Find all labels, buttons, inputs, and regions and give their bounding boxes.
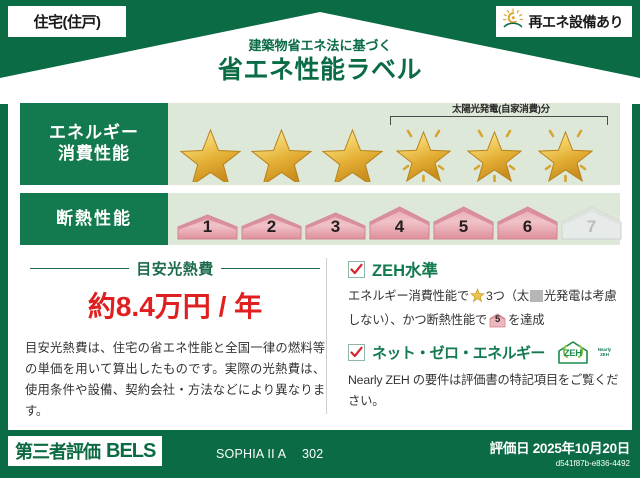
evaluation-id: d541f87b-e836-4492 [490,459,630,468]
star-solar-6 [531,122,600,182]
house-type-badge-label: 住宅(住戸) [34,11,101,32]
insulation-grade-4-number: 4 [368,217,431,237]
insulation-grade-3-number: 3 [304,217,367,237]
sun-icon [502,8,525,35]
evaluation-date: 評価日 2025年10月20日 [490,437,630,457]
star-solar-4 [389,122,458,182]
insulation-grade-7: 7 [560,203,623,241]
insulation-label: 断熱性能 [56,209,132,230]
renewable-equipment-label: 再エネ設備あり [529,12,624,32]
content-panel: エネルギー 消費性能 太陽光発電(自家消費)分 [8,92,632,430]
star-rating [176,122,600,182]
insulation-performance-row: 断熱性能 1 [20,193,620,245]
solar-bracket-label: 太陽光発電(自家消費)分 [396,101,606,115]
insulation-grade-5: 5 [432,203,495,241]
house-type-badge: 住宅(住戸) [8,6,126,37]
zeh-standard-heading: ZEH水準 [348,257,620,281]
energy-performance-label-block: エネルギー 消費性能 [20,103,168,185]
zeh-column: ZEH水準 エネルギー消費性能で 3つ（太光発電は考慮しない）、かつ断熱性能で … [330,254,620,418]
insulation-grade-6-number: 6 [496,217,559,237]
energy-label-line1: エネルギー [49,123,139,144]
insulation-grade-scale: 1 2 3 [176,203,623,241]
zeh-logo-subtext-line2: ZEH [600,352,609,357]
zeh-logo-text: ZEH [556,348,590,359]
net-zero-energy-heading: ネット・ゼロ・エネルギー ZEH Nearly ZEH [348,340,620,365]
energy-performance-label: 住宅(住戸) 再エネ設備あり 建築物省エネ法に基づく 省 [0,0,640,478]
energy-performance-row: エネルギー 消費性能 太陽光発電(自家消費)分 [20,103,620,185]
cost-note: 目安光熱費は、住宅の省エネ性能と全国一律の燃料等の単価を用いて算出したものです。… [20,338,330,423]
zeh-standard-text-1: エネルギー消費性能で [348,289,469,303]
insulation-grade-2-number: 2 [240,217,303,237]
cost-column: 目安光熱費 約8.4万円 / 年 目安光熱費は、住宅の省エネ性能と全国一律の燃料… [20,254,330,418]
insulation-grade-6: 6 [496,203,559,241]
star-icon [470,288,485,310]
zeh-logo-icon: ZEH [556,340,590,365]
evaluation-info: 評価日 2025年10月20日 d541f87b-e836-4492 [490,437,630,468]
building-name: SOPHIA II A 302 [216,443,323,462]
cost-rule-right [221,268,320,270]
insulation-grade-1-number: 1 [176,217,239,237]
redacted-block [530,290,543,302]
renewable-equipment-badge: 再エネ設備あり [496,6,633,37]
details-columns: 目安光熱費 約8.4万円 / 年 目安光熱費は、住宅の省エネ性能と全国一律の燃料… [20,254,620,418]
zeh-logo-subtext: Nearly ZEH [598,348,611,358]
zeh-standard-text-4: を達成 [508,313,544,327]
insulation-grade-4: 4 [368,203,431,241]
title-subtitle: 建築物省エネ法に基づく [0,38,640,54]
zeh-standard-title: ZEH水準 [372,257,438,281]
net-zero-energy-title: ネット・ゼロ・エネルギー [372,342,545,363]
zeh-standard-checkbox[interactable] [348,261,365,278]
net-zero-energy-body: Nearly ZEH の要件は評価書の特記項目をご覧ください。 [348,370,620,411]
zeh-standard-text-2: 3つ（太 [486,289,529,303]
bels-en-label: BELS [106,440,155,463]
insulation-grade-7-number: 7 [560,217,623,237]
insulation-performance-label-block: 断熱性能 [20,193,168,245]
cost-value: 約8.4万円 / 年 [20,285,330,325]
net-zero-energy-checkbox[interactable] [348,344,365,361]
star-filled-2 [247,122,316,182]
label-footer: 第三者評価 BELS SOPHIA II A 302 評価日 2025年10月2… [0,430,640,478]
zeh-standard-block: ZEH水準 エネルギー消費性能で 3つ（太光発電は考慮しない）、かつ断熱性能で … [348,257,620,330]
cost-title: 目安光熱費 [136,258,214,279]
cost-heading: 目安光熱費 [20,258,330,279]
star-filled-3 [318,122,387,182]
bels-badge: 第三者評価 BELS [8,436,162,466]
insulation-grade-3: 3 [304,203,367,241]
cost-rule-left [30,268,129,270]
insulation-grade-1: 1 [176,203,239,241]
insulation-grade-inline-icon: 5 [489,313,506,328]
net-zero-energy-block: ネット・ゼロ・エネルギー ZEH Nearly ZEH [348,340,620,411]
insulation-grade-5-number: 5 [432,217,495,237]
energy-rating-area: 太陽光発電(自家消費)分 [168,103,620,185]
zeh-standard-body: エネルギー消費性能で 3つ（太光発電は考慮しない）、かつ断熱性能で 5 を達成 [348,286,620,330]
title-main: 省エネ性能ラベル [0,55,640,86]
insulation-rating-area: 1 2 3 [168,193,620,245]
star-filled-1 [176,122,245,182]
insulation-grade-inline-number: 5 [489,312,506,328]
label-title: 建築物省エネ法に基づく 省エネ性能ラベル [0,38,640,86]
insulation-grade-2: 2 [240,203,303,241]
energy-label-line2: 消費性能 [58,144,130,165]
bels-jp-label: 第三者評価 [15,438,100,464]
star-solar-5 [460,122,529,182]
